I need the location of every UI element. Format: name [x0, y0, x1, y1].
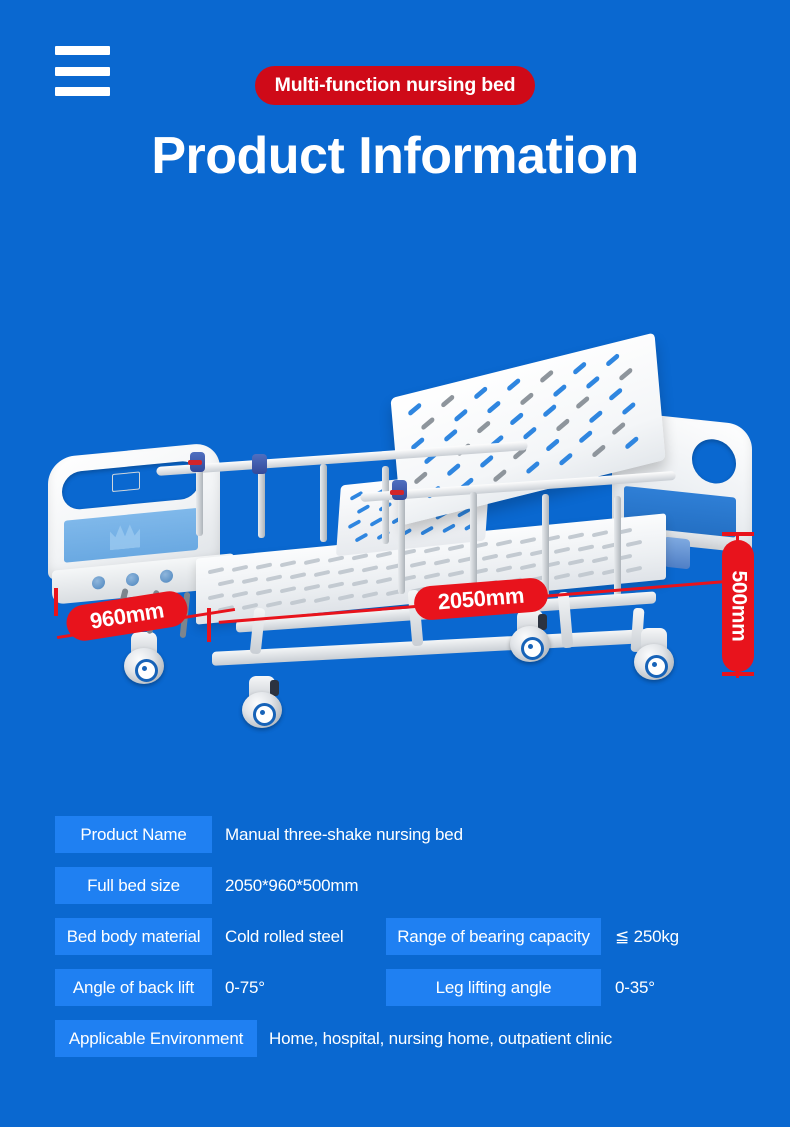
- spec-value-applicable-environment: Home, hospital, nursing home, outpatient…: [269, 1020, 612, 1057]
- product-category-badge: Multi-function nursing bed: [255, 66, 535, 105]
- rail-release-lever: [188, 460, 202, 465]
- chassis-lower-beam: [212, 628, 664, 666]
- caster-wheel: [508, 610, 552, 662]
- crank-knob: [92, 576, 105, 590]
- caster-wheel: [240, 676, 284, 728]
- footboard-bumper: [664, 537, 690, 570]
- table-row: Angle of back lift 0-75° Leg lifting ang…: [55, 969, 755, 1006]
- width-tick-right: [207, 608, 211, 642]
- spec-label-leg-lifting-angle: Leg lifting angle: [386, 969, 601, 1006]
- caster-hub-icon: [135, 659, 158, 682]
- menu-bar-1: [55, 46, 110, 55]
- height-tick-top: [722, 532, 754, 536]
- spec-label-angle-back-lift: Angle of back lift: [55, 969, 212, 1006]
- crank-knob: [126, 572, 139, 586]
- rail-post: [382, 466, 389, 544]
- spec-value-full-bed-size: 2050*960*500mm: [225, 867, 358, 904]
- height-tick-bottom: [722, 672, 754, 676]
- spec-value-product-name: Manual three-shake nursing bed: [225, 816, 463, 853]
- product-info-page: Multi-function nursing bed Product Infor…: [0, 0, 790, 1127]
- caster-hub-icon: [645, 655, 668, 678]
- rail-post: [470, 492, 477, 596]
- caster-hub-icon: [521, 637, 544, 660]
- spec-value-bearing-capacity: ≦ 250kg: [615, 918, 679, 955]
- spec-label-full-bed-size: Full bed size: [55, 867, 212, 904]
- rail-connector: [252, 454, 267, 474]
- spec-value-leg-lifting-angle: 0-35°: [615, 969, 655, 1006]
- page-title: Product Information: [0, 126, 790, 186]
- hamburger-menu-icon[interactable]: [55, 46, 110, 96]
- height-callout: 500mm: [722, 540, 754, 672]
- spec-label-product-name: Product Name: [55, 816, 212, 853]
- rail-post: [320, 464, 327, 542]
- spec-value-bed-body-material: Cold rolled steel: [225, 918, 344, 955]
- table-row: Product Name Manual three-shake nursing …: [55, 816, 755, 853]
- headboard-label-plate: [112, 471, 140, 492]
- product-illustration: [0, 340, 790, 770]
- table-row: Full bed size 2050*960*500mm: [55, 867, 755, 904]
- menu-bar-3: [55, 87, 110, 96]
- crank-knob: [160, 569, 173, 583]
- spec-label-bearing-capacity: Range of bearing capacity: [386, 918, 601, 955]
- caster-wheel: [632, 628, 676, 680]
- spec-label-bed-body-material: Bed body material: [55, 918, 212, 955]
- caster-wheel: [122, 632, 166, 684]
- spec-value-angle-back-lift: 0-75°: [225, 969, 265, 1006]
- height-callout-text: 500mm: [726, 571, 750, 642]
- caster-hub-icon: [253, 703, 276, 726]
- menu-bar-2: [55, 67, 110, 76]
- specification-table: Product Name Manual three-shake nursing …: [55, 816, 755, 1071]
- table-row: Applicable Environment Home, hospital, n…: [55, 1020, 755, 1057]
- rail-post: [398, 490, 405, 594]
- table-row: Bed body material Cold rolled steel Rang…: [55, 918, 755, 955]
- width-tick-left: [54, 588, 58, 616]
- rail-post: [614, 496, 621, 598]
- rail-release-lever: [390, 490, 404, 495]
- spec-label-applicable-environment: Applicable Environment: [55, 1020, 257, 1057]
- footboard-handle-cutout: [692, 437, 736, 486]
